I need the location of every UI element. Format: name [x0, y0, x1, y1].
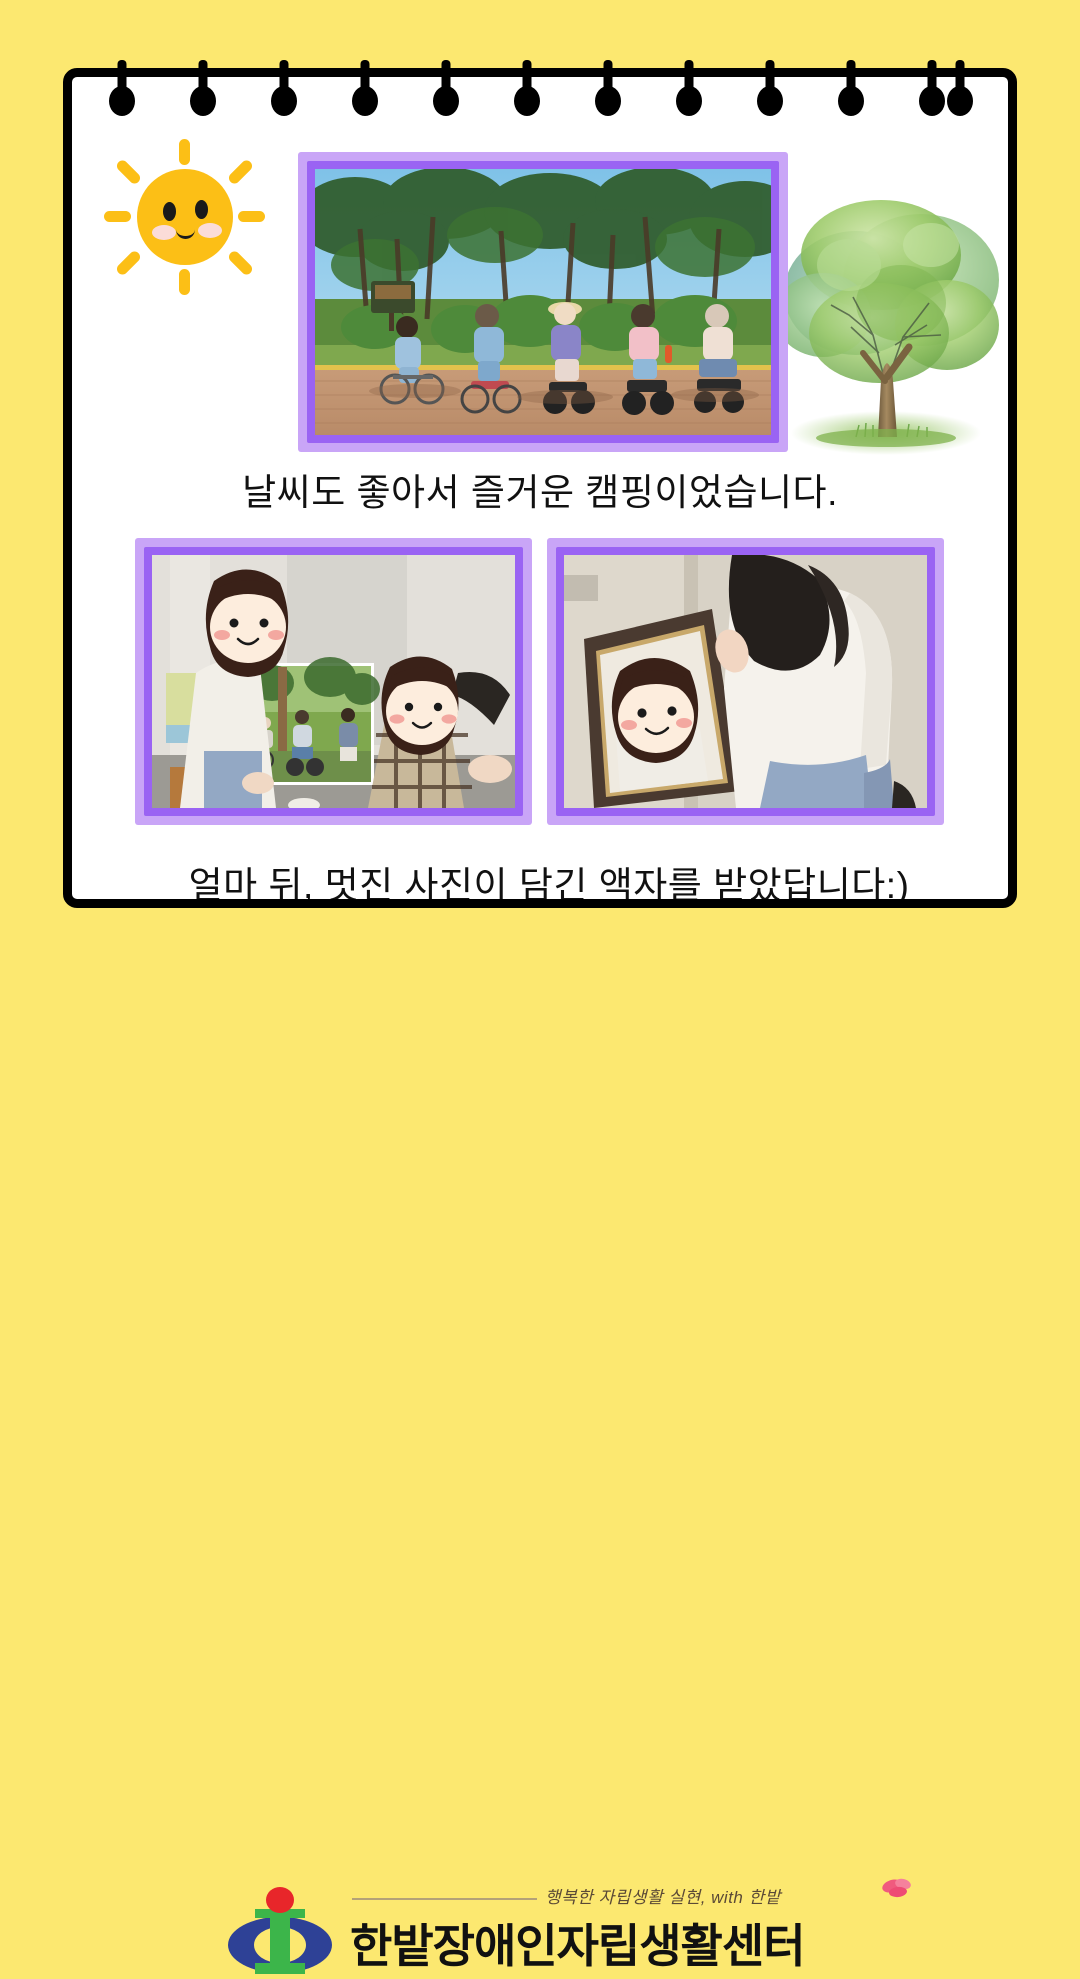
notebook-page: 날씨도 좋아서 즐거운 캠핑이었습니다. — [63, 68, 1017, 908]
photo-frame-bottom-left-inner — [144, 547, 523, 816]
sun-ray — [227, 249, 255, 277]
sun-ray — [115, 249, 143, 277]
sun-icon — [104, 139, 264, 294]
photo-frame-bottom-left — [135, 538, 532, 825]
poster-canvas: 날씨도 좋아서 즐거운 캠핑이었습니다. — [0, 0, 1080, 1080]
photo-bottom-right[interactable] — [564, 555, 927, 808]
photo-frame-top-inner — [307, 161, 779, 443]
tree-icon — [761, 185, 1008, 467]
caption-second: 얼마 뒤, 멋진 사진이 담긴 액자를 받았답니다:) — [72, 855, 1008, 899]
sun-ray — [104, 211, 131, 222]
sun-body — [137, 169, 233, 265]
notebook-page-inner: 날씨도 좋아서 즐거운 캠핑이었습니다. — [72, 77, 1008, 899]
sun-eye-left — [163, 202, 176, 221]
photo-frame-bottom-right-inner — [556, 547, 935, 816]
sun-ray — [238, 211, 265, 222]
caption-first: 날씨도 좋아서 즐거운 캠핑이었습니다. — [72, 462, 1008, 516]
photo-top-image — [315, 169, 771, 435]
sun-cheek-right — [198, 223, 222, 238]
sun-ray — [179, 269, 190, 295]
cartoon-face-sticker-left — [206, 569, 288, 677]
flower-icon — [880, 1877, 914, 1901]
emblem-pillar-base — [255, 1963, 305, 1974]
organization-name: 한밭장애인자립생활센터 — [350, 1910, 910, 1976]
hanbat-center-emblem — [228, 1887, 332, 1979]
photo-bottom-right-image — [564, 555, 927, 808]
sun-cheek-left — [152, 225, 176, 240]
footer-tagline: 행복한 자립생활 실현, with 한밭 — [545, 1883, 781, 1908]
photo-bottom-left[interactable] — [152, 555, 515, 808]
photo-frame-bottom-right — [547, 538, 944, 825]
photo-top[interactable] — [315, 169, 771, 435]
cartoon-face-sticker-right — [381, 656, 458, 755]
spiral-binding — [63, 60, 1017, 120]
photo-bottom-left-image — [152, 555, 515, 808]
photo-frame-top — [298, 152, 788, 452]
sun-ray — [115, 158, 143, 186]
sun-ray — [179, 139, 190, 165]
portrait-face-sticker — [612, 658, 698, 763]
emblem-red-dot — [266, 1887, 294, 1913]
sun-eye-right — [195, 200, 208, 219]
tagline-rule — [352, 1898, 537, 1900]
sun-ray — [227, 158, 255, 186]
footer-logo-bar: 행복한 자립생활 실현, with 한밭 한밭장애인자립생활센터 — [0, 935, 1080, 1055]
